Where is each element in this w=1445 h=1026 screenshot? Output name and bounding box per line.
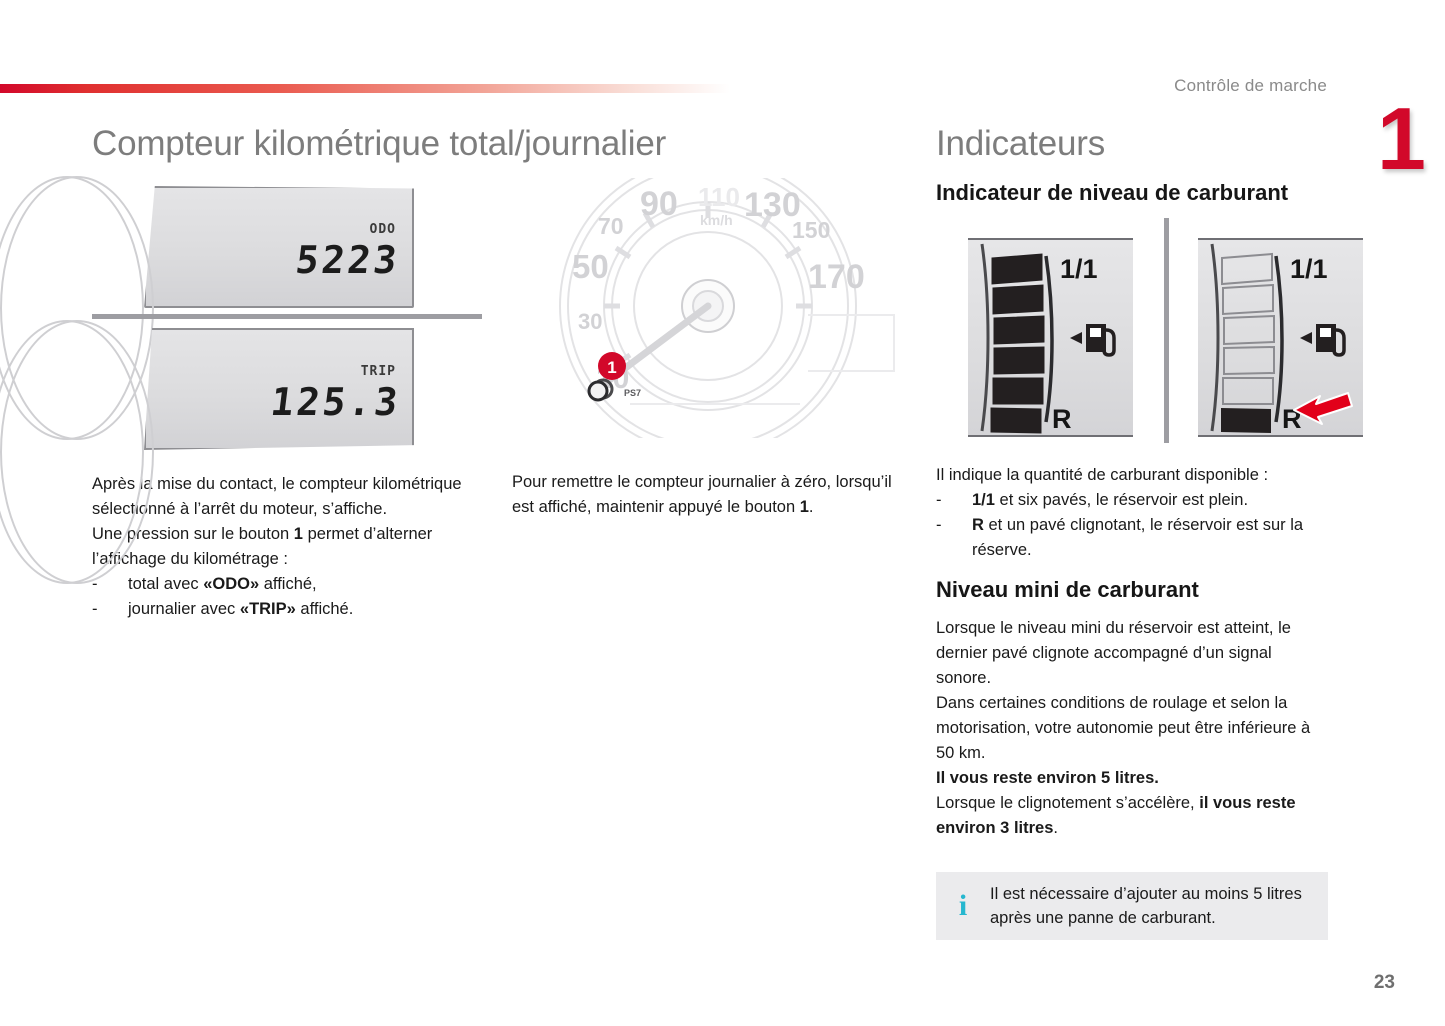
gauge-left-edge xyxy=(1212,244,1218,431)
bullet-bold: «TRIP» xyxy=(240,600,296,618)
bullet-pre: journalier avec xyxy=(128,600,240,618)
figure-divider-horizontal xyxy=(92,314,482,319)
chapter-number-tab: 1 xyxy=(1377,100,1423,180)
header-accent-rule xyxy=(0,84,730,93)
trip-label: TRIP xyxy=(361,364,396,379)
segment-empty xyxy=(1224,316,1274,344)
column-left: Compteur kilométrique total/journalier O… xyxy=(92,124,484,622)
bullet-dash: - xyxy=(936,513,972,563)
tick-label-150: 150 xyxy=(792,217,830,243)
pump-arrow-icon xyxy=(1300,332,1312,344)
tick-label-110: 110 xyxy=(698,182,740,212)
odo-value: 5223 xyxy=(294,238,403,282)
bullet-bold: 1/1 xyxy=(972,491,995,509)
red-arrow-annotation xyxy=(1294,393,1352,424)
gauge-label-reserve: R xyxy=(1052,404,1072,434)
gauge-scale-curve xyxy=(1046,256,1052,422)
segment-filled xyxy=(993,285,1043,314)
speedometer-figure: 10 30 50 70 90 110 130 150 170 km/h xyxy=(512,178,904,448)
fuel-gauge-full: 1/1 R xyxy=(968,238,1133,437)
gauge-left-edge xyxy=(982,244,988,431)
odo-label: ODO xyxy=(370,222,396,237)
middle-p-post: . xyxy=(809,498,814,516)
bullet-text: total avec «ODO» affiché, xyxy=(128,572,484,597)
right-paragraph-4: Lorsque le clignotement s’accélère, il v… xyxy=(936,791,1328,841)
right-paragraph-2: Dans certaines conditions de roulage et … xyxy=(936,691,1328,766)
list-item: - 1/1 et six pavés, le réservoir est ple… xyxy=(936,488,1328,513)
gauge-scale-curve xyxy=(1276,256,1282,422)
bullet-text: journalier avec «TRIP» affiché. xyxy=(128,597,484,622)
button-ref-1: 1 xyxy=(294,525,303,543)
callout-badge-label: 1 xyxy=(607,358,616,377)
gauge-label-full: 1/1 xyxy=(1290,254,1328,284)
tick-label-70: 70 xyxy=(598,213,624,239)
bullet-pre: total avec xyxy=(128,575,203,593)
right-paragraph-1: Lorsque le niveau mini du réservoir est … xyxy=(936,616,1328,691)
bullet-post: affiché. xyxy=(296,600,353,618)
running-head: Contrôle de marche xyxy=(1174,76,1327,96)
odometer-display-trip: TRIP 125.3 xyxy=(144,328,414,450)
tick-label-170: 170 xyxy=(808,258,865,296)
fuel-gauge-full-svg: 1/1 R xyxy=(968,240,1133,435)
remaining-5-litres-bold: Il vous reste environ 5 litres. xyxy=(936,769,1159,787)
psr-label: PS7 xyxy=(624,388,641,398)
fuel-gauge-reserve-svg: 1/1 R xyxy=(1198,240,1363,435)
column-middle: 10 30 50 70 90 110 130 150 170 km/h xyxy=(512,124,904,520)
segment-empty xyxy=(1222,254,1272,284)
info-icon: i xyxy=(936,891,990,921)
bullet-text: R et un pavé clignotant, le réservoir es… xyxy=(972,513,1328,563)
fuel-pump-icon xyxy=(1316,324,1344,355)
subsection-heading-min-fuel: Niveau mini de carburant xyxy=(936,577,1328,603)
right-p4-pre: Lorsque le clignotement s’accélère, xyxy=(936,794,1199,812)
odometer-display-total: ODO 5223 xyxy=(144,186,414,308)
tick-label-50: 50 xyxy=(572,248,609,285)
fuel-pump-icon xyxy=(1086,324,1114,355)
left-paragraph-2: Une pression sur le bouton 1 permet d’al… xyxy=(92,522,484,572)
bullet-post: et un pavé clignotant, le réservoir est … xyxy=(972,516,1303,559)
fuel-gauge-figure: 1/1 R xyxy=(936,218,1328,443)
list-item: - total avec «ODO» affiché, xyxy=(92,572,484,597)
list-item: - R et un pavé clignotant, le réservoir … xyxy=(936,513,1328,563)
info-callout-text: Il est nécessaire d’ajouter au moins 5 l… xyxy=(990,882,1328,930)
pump-arrow-icon xyxy=(1070,332,1082,344)
segment-filled-reserve xyxy=(1221,408,1271,433)
middle-p-pre: Pour remettre le compteur journalier à z… xyxy=(512,473,892,516)
right-p4-post: . xyxy=(1053,819,1058,837)
figure-divider-vertical xyxy=(1164,218,1169,443)
segment-filled xyxy=(994,347,1044,374)
trip-value: 125.3 xyxy=(268,380,403,424)
bullet-dash: - xyxy=(936,488,972,513)
page-number: 23 xyxy=(1374,972,1395,994)
bullet-bold: «ODO» xyxy=(203,575,259,593)
fuel-gauge-reserve: 1/1 R xyxy=(1198,238,1363,437)
segment-empty xyxy=(1223,285,1273,314)
segment-filled xyxy=(991,408,1041,433)
bullet-post: et six pavés, le réservoir est plein. xyxy=(995,491,1248,509)
right-bullet-list: - 1/1 et six pavés, le réservoir est ple… xyxy=(936,488,1328,563)
segment-filled xyxy=(993,378,1043,404)
column-right: Indicateurs Indicateur de niveau de carb… xyxy=(936,124,1328,841)
tick-label-30: 30 xyxy=(578,309,602,334)
segment-empty xyxy=(1223,378,1273,404)
speedometer-svg: 10 30 50 70 90 110 130 150 170 km/h xyxy=(512,178,904,438)
bullet-bold: R xyxy=(972,516,984,534)
section-heading-indicateurs: Indicateurs xyxy=(936,124,1328,164)
segment-filled xyxy=(994,316,1044,344)
subsection-heading-fuel-gauge: Indicateur de niveau de carburant xyxy=(936,180,1328,206)
button-ref-1: 1 xyxy=(800,498,809,516)
odometer-figure: ODO 5223 TRIP 125.3 xyxy=(92,180,484,450)
tick-label-90: 90 xyxy=(640,185,678,223)
gauge-label-full: 1/1 xyxy=(1060,254,1098,284)
unit-label: km/h xyxy=(700,212,733,228)
segment-filled xyxy=(992,254,1042,284)
info-callout-box: i Il est nécessaire d’ajouter au moins 5… xyxy=(936,872,1328,940)
right-intro-paragraph: Il indique la quantité de carburant disp… xyxy=(936,463,1328,488)
list-item: - journalier avec «TRIP» affiché. xyxy=(92,597,484,622)
page-title: Compteur kilométrique total/journalier xyxy=(92,124,484,164)
left-bullet-list: - total avec «ODO» affiché, - journalier… xyxy=(92,572,484,622)
middle-paragraph: Pour remettre le compteur journalier à z… xyxy=(512,470,904,520)
segment-empty xyxy=(1224,347,1274,374)
bullet-dash: - xyxy=(92,597,128,622)
bullet-text: 1/1 et six pavés, le réservoir est plein… xyxy=(972,488,1328,513)
right-paragraph-3: Il vous reste environ 5 litres. xyxy=(936,766,1328,791)
bullet-post: affiché, xyxy=(259,575,316,593)
